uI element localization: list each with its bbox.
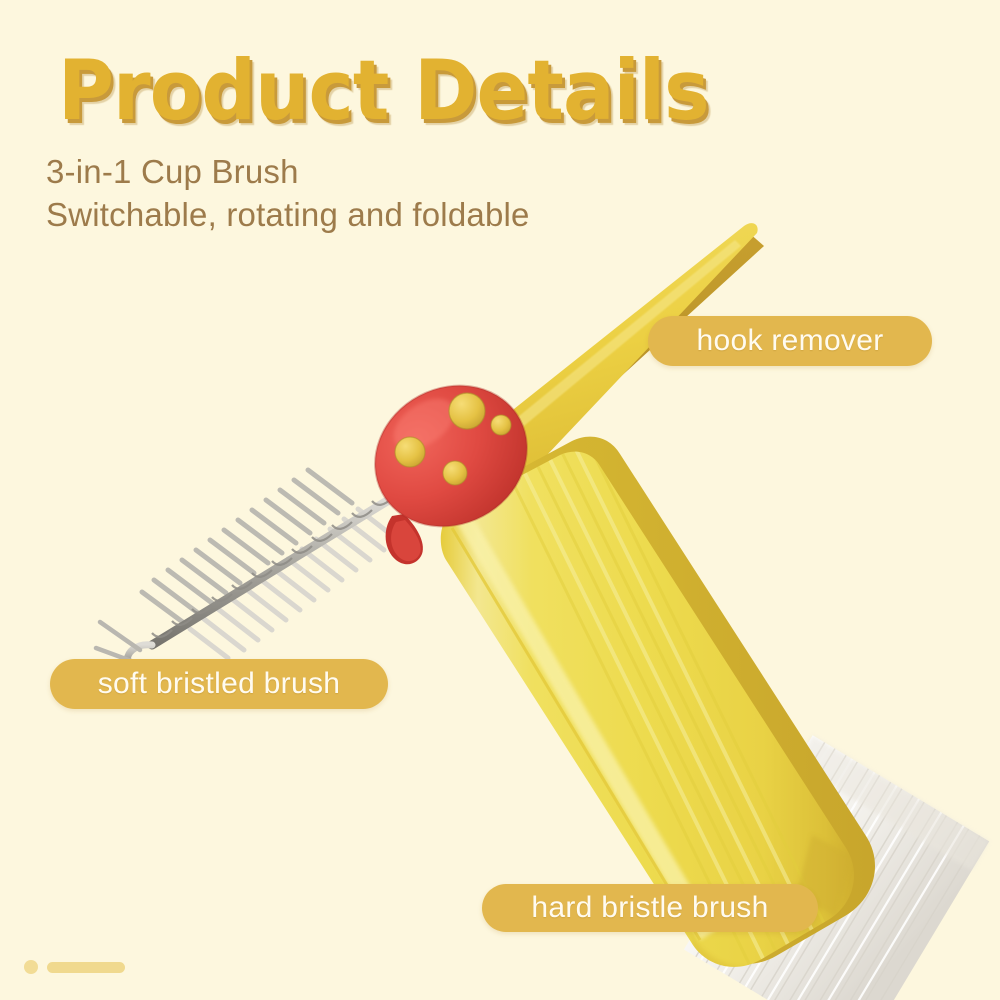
pagination-bar[interactable] bbox=[47, 962, 125, 973]
subtitle-line-1: 3-in-1 Cup Brush bbox=[46, 153, 299, 191]
callout-hook-remover: hook remover bbox=[648, 316, 932, 366]
subtitle-line-2: Switchable, rotating and foldable bbox=[46, 196, 530, 234]
product-detail-image: Product Details 3-in-1 Cup Brush Switcha… bbox=[0, 0, 1000, 1000]
pagination-indicator[interactable] bbox=[24, 960, 125, 974]
product-illustration bbox=[0, 0, 1000, 1000]
page-title: Product Details bbox=[58, 48, 709, 134]
callout-soft-bristled-brush: soft bristled brush bbox=[50, 659, 388, 709]
pagination-dot[interactable] bbox=[24, 960, 38, 974]
callout-hard-bristle-brush: hard bristle brush bbox=[482, 884, 818, 932]
